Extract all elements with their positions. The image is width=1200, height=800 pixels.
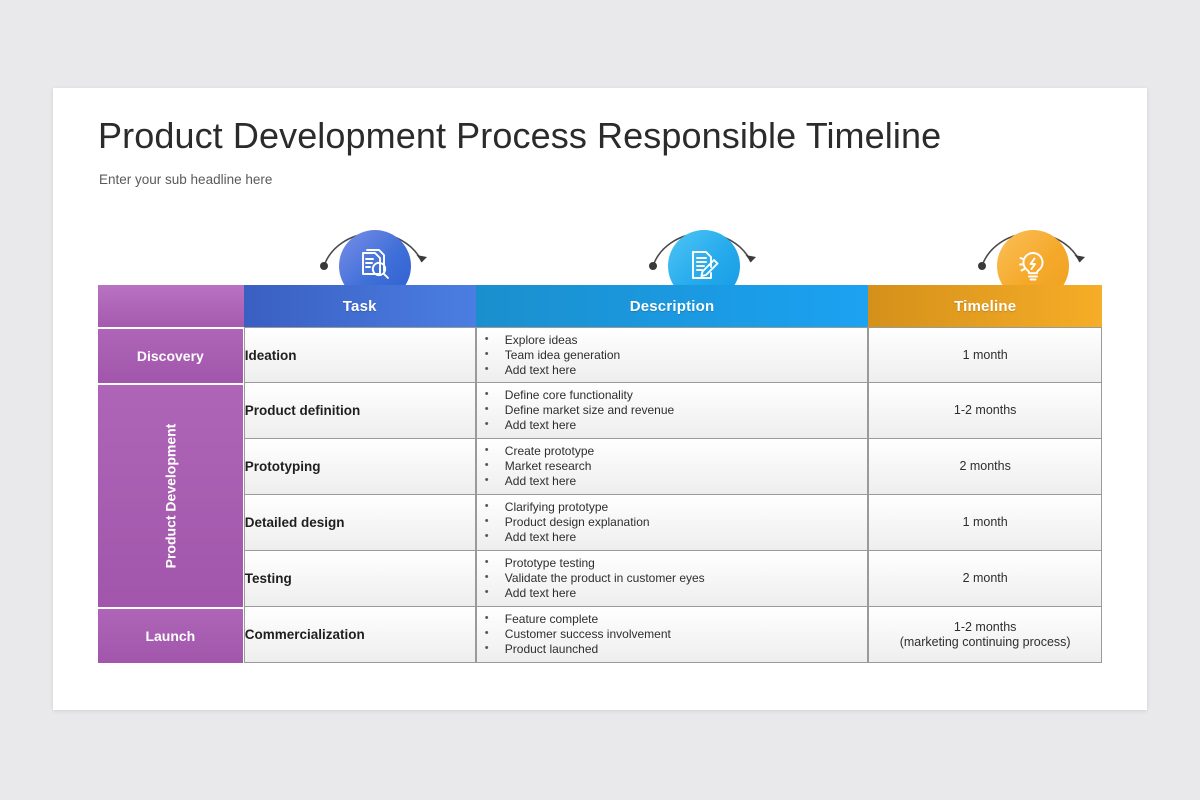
- badge-discovery: [300, 216, 450, 294]
- lightbulb-icon: [1013, 246, 1053, 286]
- description-cell: Define core functionality Define market …: [476, 383, 869, 439]
- header-description: Description: [476, 285, 869, 327]
- description-cell: Clarifying prototype Product design expl…: [476, 495, 869, 551]
- description-item: Market research: [477, 459, 868, 474]
- task-cell: Product definition: [244, 383, 476, 439]
- task-cell: Commercialization: [244, 607, 476, 663]
- header-timeline: Timeline: [868, 285, 1102, 327]
- slide-canvas: Product Development Process Responsible …: [53, 88, 1147, 710]
- phase-cell-discovery: Discovery: [98, 327, 244, 383]
- description-item: Add text here: [477, 530, 868, 545]
- description-item: Add text here: [477, 418, 868, 433]
- timeline-value: 1 month: [963, 348, 1008, 362]
- description-item: Product launched: [477, 642, 868, 657]
- timeline-value: 1-2 months: [954, 403, 1017, 417]
- table-row: Product Development Product definition D…: [98, 383, 1102, 439]
- description-item: Add text here: [477, 363, 868, 378]
- description-item: Customer success involvement: [477, 627, 868, 642]
- badge-launch: [958, 216, 1108, 294]
- description-item: Add text here: [477, 474, 868, 489]
- description-cell: Explore ideas Team idea generation Add t…: [476, 327, 869, 383]
- process-table: Task Description Timeline Discovery Idea…: [98, 285, 1102, 663]
- header-task: Task: [244, 285, 476, 327]
- page-title: Product Development Process Responsible …: [98, 115, 941, 157]
- badge-product-development: [629, 216, 779, 294]
- timeline-cell: 1-2 months: [868, 383, 1102, 439]
- table-row: Discovery Ideation Explore ideas Team id…: [98, 327, 1102, 383]
- description-item: Create prototype: [477, 444, 868, 459]
- timeline-note: (marketing continuing process): [869, 635, 1101, 650]
- header-phase: [98, 285, 244, 327]
- table-row: Prototyping Create prototype Market rese…: [98, 439, 1102, 495]
- timeline-cell: 2 month: [868, 551, 1102, 607]
- description-item: Product design explanation: [477, 515, 868, 530]
- timeline-cell: 1 month: [868, 327, 1102, 383]
- timeline-value: 1-2 months: [954, 620, 1017, 634]
- description-cell: Prototype testing Validate the product i…: [476, 551, 869, 607]
- timeline-cell: 1 month: [868, 495, 1102, 551]
- description-cell: Create prototype Market research Add tex…: [476, 439, 869, 495]
- description-item: Clarifying prototype: [477, 500, 868, 515]
- description-item: Add text here: [477, 586, 868, 601]
- timeline-cell: 1-2 months (marketing continuing process…: [868, 607, 1102, 663]
- table-header-row: Task Description Timeline: [98, 285, 1102, 327]
- task-cell: Testing: [244, 551, 476, 607]
- timeline-cell: 2 months: [868, 439, 1102, 495]
- task-cell: Detailed design: [244, 495, 476, 551]
- page-subtitle: Enter your sub headline here: [99, 172, 272, 187]
- timeline-value: 2 months: [959, 459, 1010, 473]
- description-cell: Feature complete Customer success involv…: [476, 607, 869, 663]
- phase-label: Product Development: [162, 424, 178, 569]
- description-item: Define core functionality: [477, 388, 868, 403]
- description-item: Define market size and revenue: [477, 403, 868, 418]
- document-edit-icon: [684, 246, 724, 286]
- table-row: Detailed design Clarifying prototype Pro…: [98, 495, 1102, 551]
- timeline-value: 2 month: [963, 571, 1008, 585]
- description-item: Feature complete: [477, 612, 868, 627]
- phase-cell-launch: Launch: [98, 607, 244, 663]
- description-item: Validate the product in customer eyes: [477, 571, 868, 586]
- phase-cell-product-development: Product Development: [98, 383, 244, 607]
- task-cell: Ideation: [244, 327, 476, 383]
- table-row: Testing Prototype testing Validate the p…: [98, 551, 1102, 607]
- task-cell: Prototyping: [244, 439, 476, 495]
- document-search-icon: [355, 246, 395, 286]
- timeline-value: 1 month: [963, 515, 1008, 529]
- description-item: Prototype testing: [477, 556, 868, 571]
- description-item: Explore ideas: [477, 333, 868, 348]
- table-row: Launch Commercialization Feature complet…: [98, 607, 1102, 663]
- description-item: Team idea generation: [477, 348, 868, 363]
